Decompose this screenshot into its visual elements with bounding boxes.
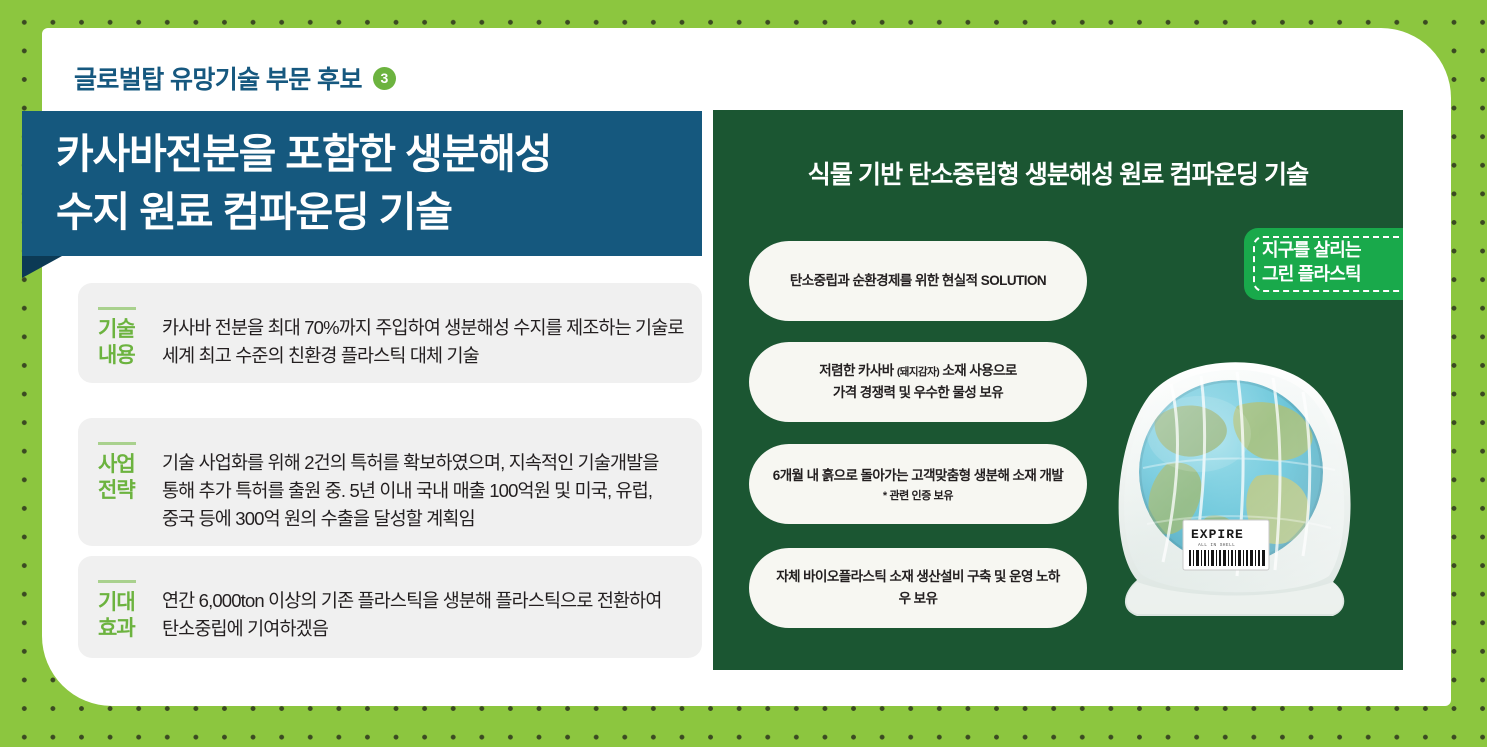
globe-illustration: EXPIRE ALL IN SHELL — [1097, 348, 1369, 638]
slide-root: 글로벌탑 유망기술 부문 후보 3 카사바전분을 포함한 생분해성 수지 원료 … — [0, 0, 1487, 747]
kicker-label: 글로벌탑 유망기술 부문 후보 — [74, 60, 362, 96]
info-label-line2: 효과 — [98, 616, 162, 642]
info-body-line: 통해 추가 특허를 출원 중. 5년 이내 국내 매출 100억원 및 미국, … — [162, 477, 684, 505]
info-body-line: 기술 사업화를 위해 2건의 특허를 확보하였으며, 지속적인 기술개발을 — [162, 449, 684, 477]
feature-pill: 탄소중립과 순환경제를 위한 현실적 SOLUTION — [749, 241, 1087, 321]
info-label: 기대 효과 — [98, 578, 162, 636]
feature-pill: 6개월 내 흙으로 돌아가는 고객맞춤형 생분해 소재 개발 * 관련 인증 보… — [749, 444, 1087, 524]
kicker: 글로벌탑 유망기술 부문 후보 3 — [74, 60, 396, 96]
feature-pill-line-small: (돼지감자) — [897, 366, 939, 378]
visual-panel: 식물 기반 탄소중립형 생분해성 원료 컴파운딩 기술 탄소중립과 순환경제를 … — [713, 110, 1403, 670]
page-title-line2: 수지 원료 컴파운딩 기술 — [56, 183, 690, 241]
info-body-line: 카사바 전분을 최대 70%까지 주입하여 생분해성 수지를 제조하는 기술로 — [162, 314, 684, 342]
page-title-line1: 카사바전분을 포함한 생분해성 — [56, 131, 551, 177]
info-body: 카사바 전분을 최대 70%까지 주입하여 생분해성 수지를 제조하는 기술로 … — [162, 305, 684, 361]
feature-pill-line: 6개월 내 흙으로 돌아가는 고객맞춤형 생분해 소재 개발 — [773, 465, 1064, 487]
info-block-technology: 기술 내용 카사바 전분을 최대 70%까지 주입하여 생분해성 수지를 제조하… — [78, 283, 702, 383]
svg-text:EXPIRE: EXPIRE — [1191, 527, 1244, 542]
feature-pill-note: * 관련 인증 보유 — [883, 487, 953, 503]
label-rule — [98, 580, 136, 583]
info-block-effect: 기대 효과 연간 6,000ton 이상의 기존 플라스틱을 생분해 플라스틱으… — [78, 556, 702, 658]
feature-pill-line: 가격 경쟁력 및 우수한 물성 보유 — [833, 382, 1003, 404]
info-label-line1: 사업 — [98, 452, 162, 478]
plastic-wrapped-globe-photo: EXPIRE ALL IN SHELL — [1097, 348, 1369, 638]
info-body: 기술 사업화를 위해 2건의 특허를 확보하였으며, 지속적인 기술개발을 통해… — [162, 440, 684, 524]
feature-pill: 자체 바이오플라스틱 소재 생산설비 구축 및 운영 노하우 보유 — [749, 548, 1087, 628]
title-ribbon: 카사바전분을 포함한 생분해성 수지 원료 컴파운딩 기술 — [22, 111, 702, 256]
feature-pill-line: 저렴한 카사바 (돼지감자) 소재 사용으로 — [819, 360, 1017, 382]
feature-pill-line: 자체 바이오플라스틱 소재 생산설비 구축 및 운영 노하우 보유 — [771, 566, 1065, 610]
info-label: 기술 내용 — [98, 305, 162, 361]
info-label-line1: 기대 — [98, 590, 162, 616]
panel-title: 식물 기반 탄소중립형 생분해성 원료 컴파운딩 기술 — [713, 155, 1403, 191]
label-rule — [98, 442, 136, 445]
info-label: 사업 전략 — [98, 440, 162, 524]
info-label-line2: 내용 — [98, 343, 162, 369]
info-label-line2: 전략 — [98, 478, 162, 504]
info-body-line: 탄소중립에 기여하겠음 — [162, 615, 684, 643]
feature-pill: 저렴한 카사바 (돼지감자) 소재 사용으로 가격 경쟁력 및 우수한 물성 보… — [749, 342, 1087, 422]
green-plastic-badge: 지구를 살리는 그린 플라스틱 — [1244, 228, 1403, 300]
info-body-line: 연간 6,000ton 이상의 기존 플라스틱을 생분해 플라스틱으로 전환하여 — [162, 587, 684, 615]
page-title: 카사바전분을 포함한 생분해성 수지 원료 컴파운딩 기술 — [56, 125, 690, 241]
feature-pill-line: 탄소중립과 순환경제를 위한 현실적 SOLUTION — [790, 270, 1046, 292]
expire-barcode-label: EXPIRE ALL IN SHELL — [1183, 520, 1269, 570]
info-body-line: 중국 등에 300억 원의 수출을 달성할 계획임 — [162, 505, 684, 533]
info-body: 연간 6,000ton 이상의 기존 플라스틱을 생분해 플라스틱으로 전환하여… — [162, 578, 684, 636]
kicker-number-badge: 3 — [373, 67, 396, 90]
badge-text-line2: 그린 플라스틱 — [1262, 263, 1403, 287]
label-rule — [98, 307, 136, 310]
info-block-strategy: 사업 전략 기술 사업화를 위해 2건의 특허를 확보하였으며, 지속적인 기술… — [78, 418, 702, 546]
info-body-line: 세계 최고 수준의 친환경 플라스틱 대체 기술 — [162, 342, 684, 370]
info-label-line1: 기술 — [98, 317, 162, 343]
ribbon-fold-shape — [22, 256, 62, 278]
badge-text: 지구를 살리는 그린 플라스틱 — [1262, 239, 1403, 287]
svg-text:ALL IN SHELL: ALL IN SHELL — [1198, 542, 1235, 548]
badge-text-line1: 지구를 살리는 — [1262, 239, 1403, 263]
